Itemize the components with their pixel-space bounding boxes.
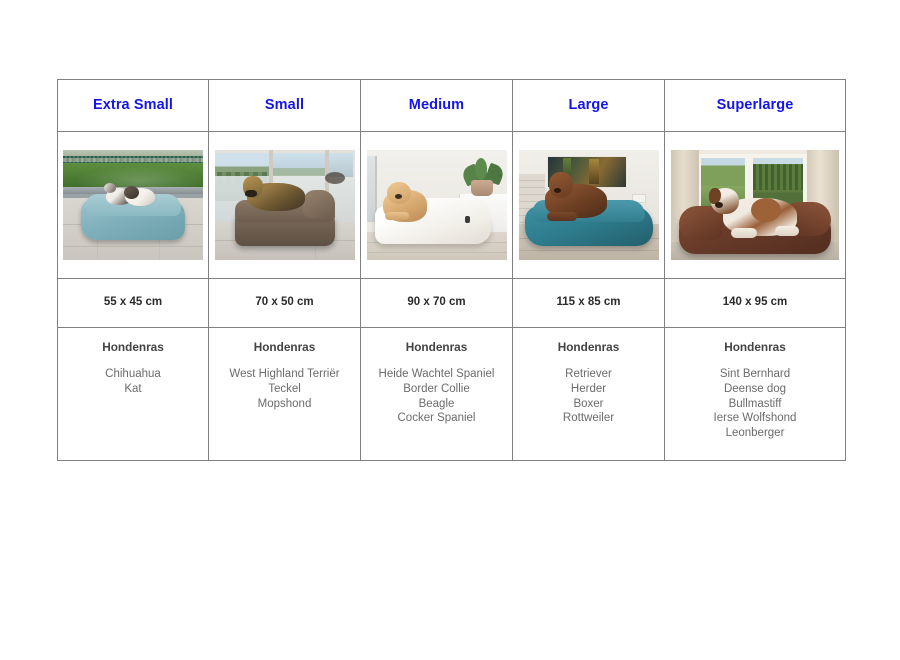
photo-dog-head [387,182,411,204]
breed-title-small: Hondenras [209,340,360,354]
photo-cell-large [513,132,665,279]
breed-item: Retriever [513,367,664,382]
size-name-extra-small: Extra Small [58,98,208,113]
breed-block-large: Hondenras Retriever Herder Boxer Rottwei… [513,328,664,426]
breed-item: Deense dog [665,382,845,397]
header-cell-small: Small [209,80,361,132]
photo-floor-plank-line [367,252,507,253]
photo-dog-head [549,172,573,198]
header-cell-extra-small: Extra Small [58,80,209,132]
breed-item: Boxer [513,397,664,412]
photo-lawn-highlight [63,163,203,189]
breed-block-small: Hondenras West Highland Terriër Teckel M… [209,328,360,411]
breed-block-extra-small: Hondenras Chihuahua Kat [58,328,208,397]
breed-item: Bullmastiff [665,397,845,412]
photo-plant-pot [471,180,493,196]
photo-wrap-superlarge [665,132,845,278]
photo-outdoor-hill [273,168,325,176]
photo-floor-plank-line [519,250,659,251]
breeds-cell-small: Hondenras West Highland Terriër Teckel M… [209,328,361,461]
table-photo-row [58,132,846,279]
photo-wrap-small [209,132,360,278]
size-name-medium: Medium [361,98,512,113]
breed-list-large: Retriever Herder Boxer Rottweiler [513,367,664,426]
breed-item: Herder [513,382,664,397]
photo-tile-line [63,246,203,247]
photo-wrap-extra-small [58,132,208,278]
dimensions-large: 115 x 85 cm [513,297,664,309]
breed-title-extra-small: Hondenras [58,340,208,354]
dimensions-cell-superlarge: 140 x 95 cm [665,279,846,328]
breed-item: Heide Wachtel Spaniel [361,367,512,382]
header-cell-medium: Medium [361,80,513,132]
breed-item: West Highland Terriër [209,367,360,382]
photo-artwork-detail [589,159,599,184]
dimensions-cell-small: 70 x 50 cm [209,279,361,328]
dimensions-cell-large: 115 x 85 cm [513,279,665,328]
size-name-large: Large [513,98,664,113]
photo-cat-head [104,183,116,193]
breed-title-large: Hondenras [513,340,664,354]
breed-item: Ierse Wolfshond [665,411,845,426]
photo-cell-extra-small [58,132,209,279]
photo-dog-paw [775,226,799,236]
breed-title-superlarge: Hondenras [665,340,845,354]
page-canvas: Extra Small Small Medium Large Superlarg… [0,0,900,660]
breed-list-medium: Heide Wachtel Spaniel Border Collie Beag… [361,367,512,426]
product-photo-extra-small [63,150,203,260]
dimensions-cell-medium: 90 x 70 cm [361,279,513,328]
photo-wrap-large [513,132,664,278]
photo-dog-bed-armrest [303,190,335,218]
photo-dog-paws [385,212,409,220]
header-cell-large: Large [513,80,665,132]
breed-item: Leonberger [665,426,845,441]
breed-item: Teckel [209,382,360,397]
dog-bed-size-table: Extra Small Small Medium Large Superlarg… [57,79,846,461]
table-breeds-row: Hondenras Chihuahua Kat Hondenras West H… [58,328,846,461]
photo-bed-label-tag [465,216,470,223]
photo-cell-superlarge [665,132,846,279]
photo-dog-nose [395,194,402,199]
header-cell-superlarge: Superlarge [665,80,846,132]
table-dimensions-row: 55 x 45 cm 70 x 50 cm 90 x 70 cm 115 x 8… [58,279,846,328]
dimensions-medium: 90 x 70 cm [361,297,512,309]
photo-dog-nose [715,202,723,208]
breed-block-superlarge: Hondenras Sint Bernhard Deense dog Bullm… [665,328,845,441]
breed-list-small: West Highland Terriër Teckel Mopshond [209,367,360,411]
breed-item: Beagle [361,397,512,412]
breed-item: Kat [58,382,208,397]
product-photo-large [519,150,659,260]
product-photo-superlarge [671,150,839,260]
photo-dog-paw [731,228,757,238]
dimensions-small: 70 x 50 cm [209,297,360,309]
photo-dog-nose [554,188,561,193]
photo-dog-paws [547,212,577,221]
table-header-row: Extra Small Small Medium Large Superlarg… [58,80,846,132]
size-name-superlarge: Superlarge [665,98,845,113]
breed-title-medium: Hondenras [361,340,512,354]
dimensions-superlarge: 140 x 95 cm [665,297,845,309]
breeds-cell-large: Hondenras Retriever Herder Boxer Rottwei… [513,328,665,461]
photo-plant-leaf [475,158,487,180]
breed-list-extra-small: Chihuahua Kat [58,367,208,396]
breed-item: Sint Bernhard [665,367,845,382]
size-name-small: Small [209,98,360,113]
photo-cell-medium [361,132,513,279]
photo-dog-marking [751,198,781,222]
photo-background-object [325,172,345,184]
photo-fence-detail [63,158,203,162]
dimensions-cell-extra-small: 55 x 45 cm [58,279,209,328]
breed-block-medium: Hondenras Heide Wachtel Spaniel Border C… [361,328,512,426]
photo-cell-small [209,132,361,279]
breeds-cell-superlarge: Hondenras Sint Bernhard Deense dog Bullm… [665,328,846,461]
breeds-cell-medium: Hondenras Heide Wachtel Spaniel Border C… [361,328,513,461]
product-photo-medium [367,150,507,260]
breed-item: Rottweiler [513,411,664,426]
photo-wrap-medium [361,132,512,278]
breed-item: Chihuahua [58,367,208,382]
breed-item: Mopshond [209,397,360,412]
photo-cat-head [124,186,139,199]
photo-dog-muzzle [245,190,257,197]
breeds-cell-extra-small: Hondenras Chihuahua Kat [58,328,209,461]
product-photo-small [215,150,355,260]
photo-garden-hedge [753,164,803,190]
breed-list-superlarge: Sint Bernhard Deense dog Bullmastiff Ier… [665,367,845,441]
dimensions-extra-small: 55 x 45 cm [58,297,208,309]
breed-item: Border Collie [361,382,512,397]
breed-item: Cocker Spaniel [361,411,512,426]
